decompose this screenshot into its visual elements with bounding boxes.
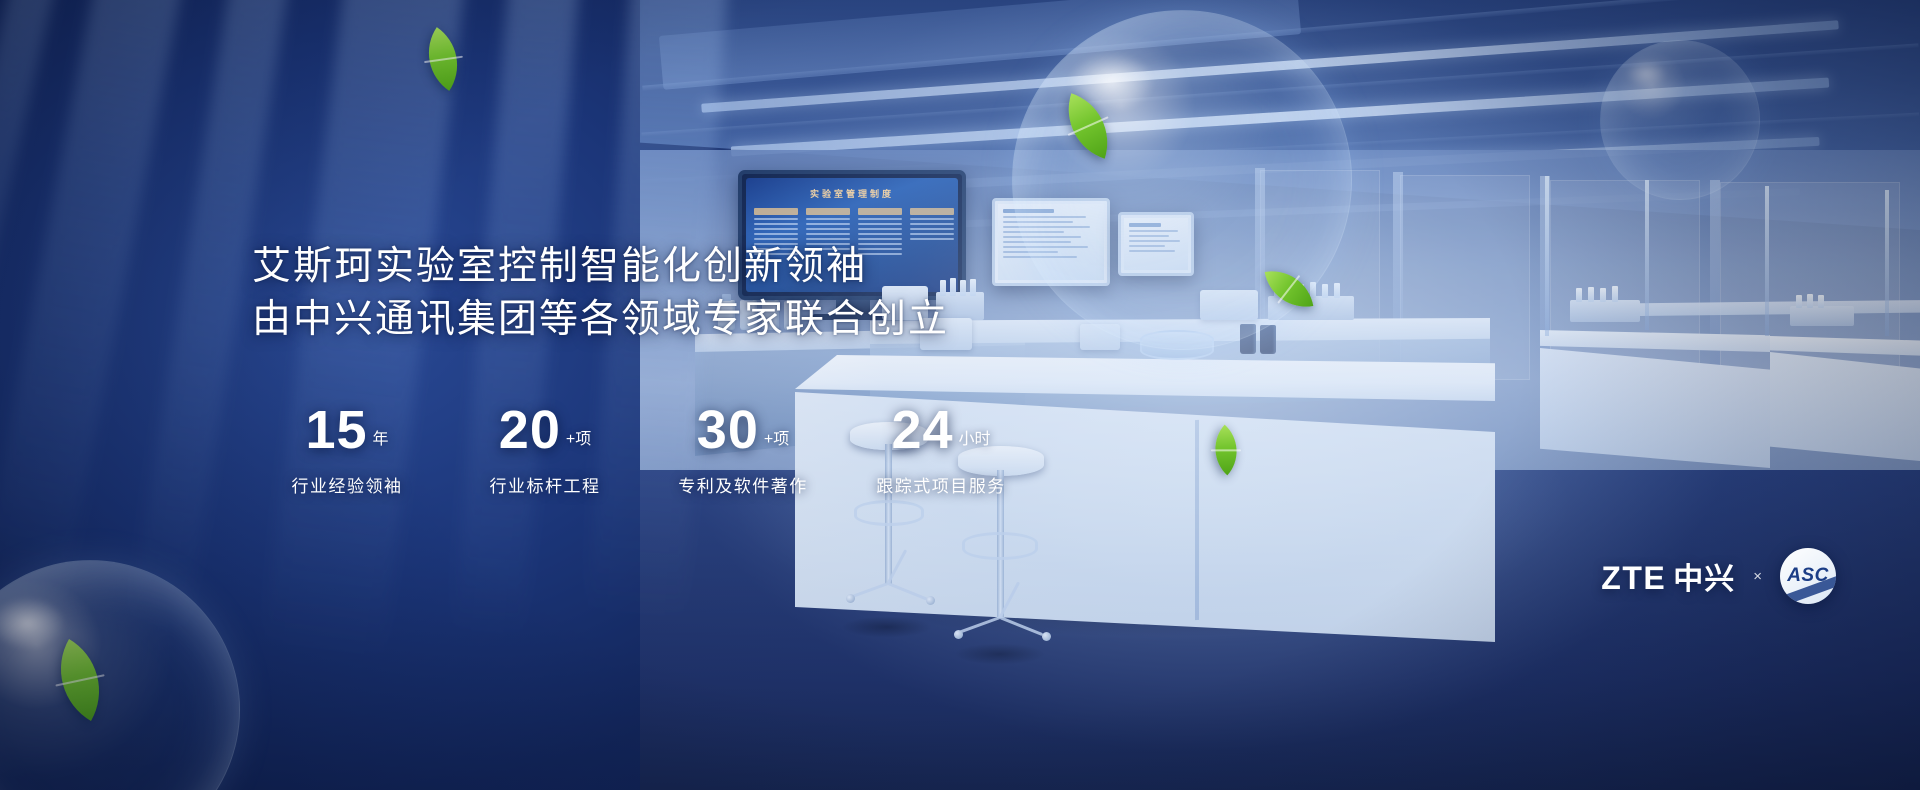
zte-logo: ZTE 中兴: [1601, 554, 1735, 598]
zte-logo-cn: 中兴: [1673, 554, 1735, 598]
stat-number-row: 20 +项: [446, 400, 644, 460]
zte-logo-en: ZTE: [1601, 560, 1666, 597]
stat-number-row: 24 小时: [842, 400, 1040, 460]
stat-unit: +项: [566, 425, 591, 449]
headline-line-1: 艾斯珂实验室控制智能化创新领袖: [252, 240, 949, 293]
stat-unit: +项: [764, 425, 789, 449]
headline-line-2: 由中兴通讯集团等各领域专家联合创立: [252, 293, 949, 346]
stat-label: 行业经验领袖: [248, 472, 446, 497]
stat-item-benchmark-projects: 20 +项 行业标杆工程: [446, 400, 644, 497]
logo-lockup: ZTE 中兴 × ASC: [1601, 548, 1836, 604]
stat-number: 15: [305, 400, 367, 460]
stat-item-experience: 15 年 行业经验领袖: [248, 400, 446, 497]
banner-stage: 实验室管理制度: [0, 0, 1920, 790]
stat-item-patents: 30 +项 专利及软件著作: [644, 400, 842, 497]
stat-number-row: 15 年: [248, 400, 446, 460]
stat-unit: 年: [373, 425, 389, 449]
stat-unit: 小时: [959, 425, 991, 449]
asc-logo: ASC: [1780, 548, 1836, 604]
headline-block: 艾斯珂实验室控制智能化创新领袖 由中兴通讯集团等各领域专家联合创立: [252, 240, 949, 346]
stat-number-row: 30 +项: [644, 400, 842, 460]
stat-number: 30: [697, 400, 759, 460]
logo-separator: ×: [1751, 568, 1764, 585]
stat-label: 跟踪式项目服务: [842, 472, 1040, 497]
statistics-row: 15 年 行业经验领袖 20 +项 行业标杆工程 30 +项 专利及软件著作: [248, 400, 1040, 497]
stat-number: 20: [499, 400, 561, 460]
stat-number: 24: [891, 400, 953, 460]
banner-content: 艾斯珂实验室控制智能化创新领袖 由中兴通讯集团等各领域专家联合创立 15 年 行…: [0, 0, 1920, 790]
stat-label: 专利及软件著作: [644, 472, 842, 497]
asc-logo-text: ASC: [1787, 565, 1829, 587]
stat-item-service-hours: 24 小时 跟踪式项目服务: [842, 400, 1040, 497]
stat-label: 行业标杆工程: [446, 472, 644, 497]
